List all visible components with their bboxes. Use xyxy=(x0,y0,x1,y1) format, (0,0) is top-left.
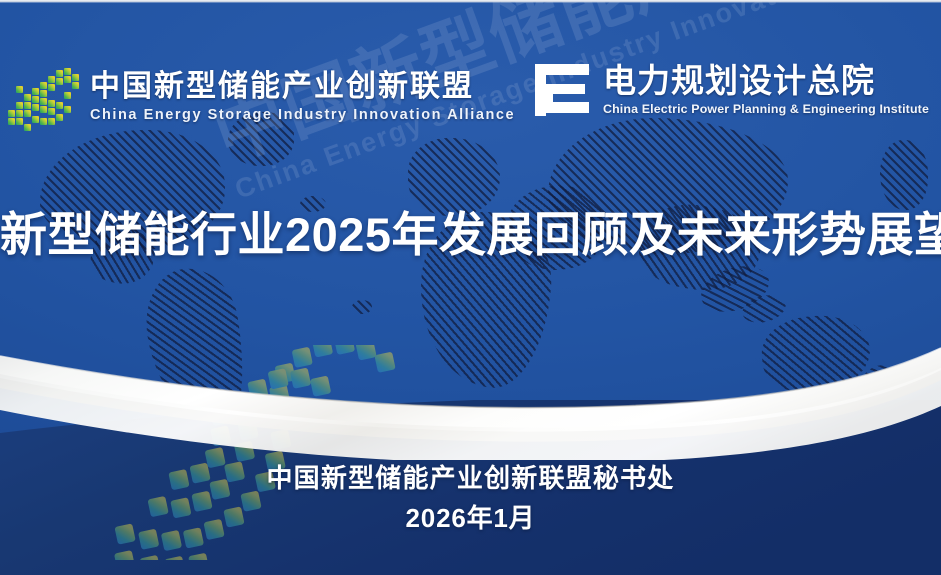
alliance-logo: 中国新型储能产业创新联盟 China Energy Storage Indust… xyxy=(8,58,515,136)
mosaic-swirl-mark xyxy=(8,58,82,136)
alliance-logo-cn: 中国新型储能产业创新联盟 xyxy=(90,70,515,104)
alliance-logo-en: China Energy Storage Industry Innovation… xyxy=(90,107,515,124)
institute-logo-en: China Electric Power Planning & Engineer… xyxy=(603,102,929,117)
footer-date: 2026年1月 xyxy=(0,502,941,535)
institute-logo-cn: 电力规划设计总院 xyxy=(603,63,929,99)
epri-block-monogram-icon xyxy=(533,62,591,118)
footer-organization: 中国新型储能产业创新联盟秘书处 xyxy=(0,462,941,495)
institute-logo: 电力规划设计总院 China Electric Power Planning &… xyxy=(533,62,929,118)
page-title: 新型储能行业2025年发展回顾及未来形势展望 xyxy=(0,196,941,265)
footer: 中国新型储能产业创新联盟秘书处 2026年1月 xyxy=(0,462,941,534)
silver-wave-ribbon xyxy=(0,330,941,460)
title-slide: 中国新型储能产业创新联盟 China Energy Storage Indust… xyxy=(0,0,941,575)
